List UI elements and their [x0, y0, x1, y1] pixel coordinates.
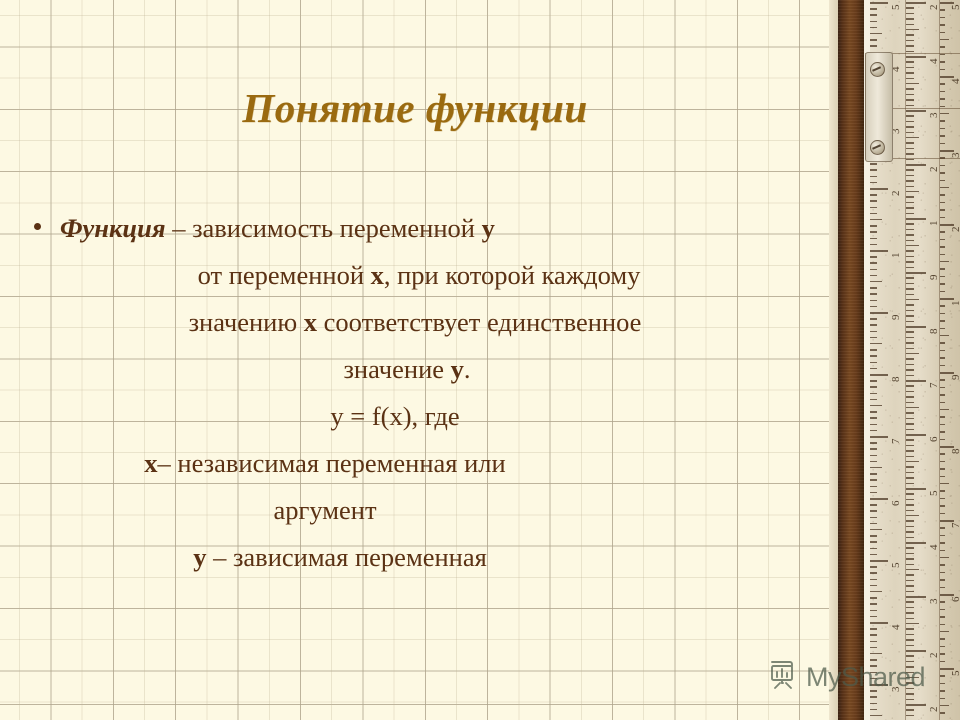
ruler-tick: [870, 467, 882, 468]
ruler-tick: [940, 98, 945, 99]
ruler-tick: [940, 261, 949, 262]
ruler-tick: [906, 288, 914, 289]
ruler-tick: [906, 472, 914, 473]
ruler-tick: [870, 275, 877, 276]
ruler-tick: [906, 466, 914, 467]
ruler-number: 3: [928, 113, 940, 119]
ruler-tick: [940, 365, 945, 366]
ruler-tick: [870, 628, 877, 629]
ruler-tick: [906, 267, 914, 268]
ruler-tick: [906, 580, 914, 581]
vintage-ruler-artwork: 543219876543 24321987654322 5432198765: [829, 0, 960, 720]
ruler-tick: [940, 675, 945, 676]
ruler-tick: [870, 355, 877, 356]
ruler-tick: [870, 517, 877, 518]
ruler-tick: [906, 45, 914, 46]
ruler-tick: [906, 315, 914, 316]
ruler-tick: [906, 628, 914, 629]
ruler-tick: [870, 393, 877, 394]
ruler-number: 8: [950, 449, 960, 455]
ruler-tick: [940, 527, 945, 528]
ruler-tick: [906, 450, 914, 451]
formula-line: y = f(x), где: [0, 393, 830, 440]
ruler-tick: [906, 78, 914, 79]
ruler-tick: [870, 585, 877, 586]
ruler-tick: [940, 498, 945, 499]
ruler-tick: [940, 579, 945, 580]
ruler-tick: [906, 250, 914, 251]
ruler-tick: [906, 223, 914, 224]
ruler-tick: [940, 453, 945, 454]
ruler-tick: [940, 283, 945, 284]
ruler-number: 2: [928, 167, 940, 173]
ruler-tick: [906, 202, 914, 203]
ruler-tick: [940, 91, 945, 92]
ruler-tick: [906, 553, 914, 554]
ruler-tick: [906, 423, 914, 424]
ruler-tick: [906, 29, 919, 30]
ruler-tick: [940, 9, 945, 10]
ruler-tick: [940, 379, 945, 380]
definition-line-3: значению x соответствует единственное: [0, 299, 830, 346]
ruler-tick: [870, 529, 882, 530]
ruler-tick: [906, 655, 914, 656]
ruler-tick: [870, 554, 877, 555]
ruler-tick: [940, 705, 949, 706]
formula-text: y = f(x), где: [330, 401, 459, 431]
ruler-tick: [906, 402, 914, 403]
ruler-tick: [870, 14, 877, 15]
ruler-tick: [940, 217, 945, 218]
ruler-tick: [940, 661, 945, 662]
ruler-tick: [906, 191, 919, 192]
ruler-tick: [906, 56, 926, 58]
ruler-tick: [906, 531, 914, 532]
ruler-tick: [940, 313, 945, 314]
variable-x: x: [371, 260, 384, 290]
ruler-tick: [906, 261, 914, 262]
ruler-tick: [906, 412, 914, 413]
ruler-tick: [906, 369, 914, 370]
ruler-tick: [870, 169, 877, 170]
ruler-tick: [906, 2, 926, 4]
ruler-tick: [870, 610, 877, 611]
ruler-tick: [906, 439, 914, 440]
ruler-number: 6: [928, 437, 940, 443]
ruler-tick: [940, 387, 945, 388]
ruler-tick: [906, 396, 914, 397]
ruler-tick: [870, 33, 882, 34]
ruler-tick: [870, 2, 888, 4]
ruler-tick: [940, 231, 945, 232]
ruler-tick: [906, 169, 914, 170]
ruler-tick: [940, 83, 945, 84]
ruler-tick: [906, 650, 926, 652]
ruler-tick: [870, 362, 877, 363]
ruler-tick: [870, 486, 877, 487]
ruler-number: 1: [950, 301, 960, 307]
ruler-number: 2: [890, 191, 902, 197]
ruler-number: 4: [928, 545, 940, 551]
ruler-tick: [940, 564, 945, 565]
screw-icon: [870, 62, 885, 77]
ruler-tick: [940, 291, 945, 292]
ruler-tick: [870, 337, 877, 338]
ruler-tick: [870, 368, 877, 369]
ruler-tick: [870, 287, 877, 288]
ruler-tick: [940, 335, 949, 336]
ruler-tick: [940, 646, 945, 647]
ruler-tick: [870, 510, 877, 511]
ruler-tick: [940, 424, 945, 425]
definition-text-3b: соответствует единственное: [317, 307, 641, 337]
ruler-tick: [906, 477, 914, 478]
ruler-tick: [906, 407, 919, 408]
ruler-tick: [906, 207, 914, 208]
ruler-tick: [870, 696, 877, 697]
ruler-number: 9: [928, 275, 940, 281]
ruler-tick: [940, 624, 945, 625]
ruler-tick: [870, 194, 877, 195]
ruler-tick: [870, 424, 877, 425]
ruler-tick: [870, 318, 877, 319]
ruler-tick: [906, 585, 914, 586]
ruler-tick: [870, 219, 882, 220]
ruler-tick: [940, 683, 945, 684]
ruler-tick: [906, 596, 926, 598]
ruler-tick: [870, 8, 877, 9]
ruler-tick: [940, 690, 945, 691]
ruler-tick: [906, 115, 914, 116]
ruler-tick: [940, 653, 945, 654]
ruler-tick: [870, 560, 888, 562]
ruler-tick: [906, 429, 914, 430]
ruler-tick: [870, 616, 877, 617]
ruler-tick: [870, 417, 877, 418]
ruler-tick: [906, 537, 914, 538]
ruler-tick: [870, 641, 877, 642]
ruler-tick: [906, 704, 926, 706]
ruler-tick: [940, 46, 945, 47]
ruler-tick: [940, 587, 945, 588]
book-spine-grain: [838, 0, 864, 720]
ruler-tick: [940, 113, 949, 114]
ruler-tick: [870, 300, 877, 301]
ruler-tick: [906, 634, 914, 635]
ruler-tick: [940, 505, 945, 506]
definition-text-3a: значению: [189, 307, 304, 337]
ruler-tick: [940, 431, 945, 432]
ruler-tick: [906, 164, 926, 166]
ruler-number: 2: [950, 227, 960, 233]
ruler-tick: [870, 256, 877, 257]
ruler-tick: [870, 709, 877, 710]
ruler-number: 4: [950, 79, 960, 85]
ruler-tick: [940, 172, 945, 173]
ruler-tick: [940, 202, 945, 203]
ruler-tick: [940, 416, 945, 417]
ruler-tick: [906, 542, 926, 544]
ruler-tick: [940, 542, 945, 543]
ruler-tick: [940, 350, 945, 351]
ruler-tick: [940, 601, 945, 602]
ruler-tick: [870, 597, 877, 598]
ruler-tick: [940, 513, 945, 514]
ruler-tick: [906, 18, 914, 19]
ruler-tick: [906, 137, 919, 138]
ruler-number: 5: [890, 5, 902, 11]
ruler-tick: [940, 631, 949, 632]
ruler-tick: [870, 436, 888, 438]
variable-x: x: [304, 307, 317, 337]
ruler-tick: [940, 609, 945, 610]
ruler-tick: [906, 385, 914, 386]
ruler-tick: [870, 566, 877, 567]
ruler-tick: [906, 13, 914, 14]
ruler-tick: [906, 569, 919, 570]
ruler-tick: [870, 399, 877, 400]
ruler-tick: [906, 715, 914, 716]
ruler-tick: [906, 121, 914, 122]
ruler-tick: [906, 256, 914, 257]
variable-y: y: [451, 354, 464, 384]
ruler-tick: [870, 380, 877, 381]
ruler-number: 1: [928, 221, 940, 227]
ruler-tick: [906, 709, 914, 710]
ruler-tick: [906, 591, 914, 592]
ruler-tick: [906, 126, 914, 127]
ruler-tick: [906, 483, 914, 484]
ruler-number: 5: [928, 491, 940, 497]
ruler-tick: [940, 712, 945, 713]
ruler-tick: [906, 7, 914, 8]
ruler-tick: [906, 99, 914, 100]
ruler-tick: [906, 699, 914, 700]
ruler-tick: [870, 343, 882, 344]
ruler-tick: [906, 175, 914, 176]
ruler-number: 7: [890, 439, 902, 445]
ruler-tick: [906, 510, 914, 511]
ruler-tick: [870, 653, 882, 654]
ruler-tick: [870, 548, 877, 549]
variable-y: y: [193, 542, 206, 572]
ruler-tick: [940, 402, 945, 403]
ruler-tick: [940, 638, 945, 639]
ruler-tick: [870, 634, 877, 635]
ruler-tick: [940, 120, 945, 121]
ruler-tick: [940, 209, 945, 210]
ruler-tick: [906, 326, 926, 328]
ruler-tick: [906, 105, 914, 106]
page-title: Понятие функции: [0, 84, 830, 132]
ruler-tick: [906, 240, 914, 241]
definition-line-4: значение y.: [0, 346, 830, 393]
ruler-tick: [870, 405, 882, 406]
ruler-tick: [906, 493, 914, 494]
definition-line-2: от переменной x, при которой каждому: [0, 252, 830, 299]
ruler-tick: [870, 262, 877, 263]
ruler-tick: [940, 550, 945, 551]
ruler-tick: [940, 276, 945, 277]
ruler-tick: [906, 418, 914, 419]
ruler-tick: [940, 468, 945, 469]
ruler-number: 4: [928, 59, 940, 65]
ruler-tick: [870, 541, 877, 542]
ruler-tick: [906, 51, 914, 52]
ruler-tick: [906, 564, 914, 565]
ruler-tick: [940, 239, 945, 240]
ruler-tick: [940, 54, 945, 55]
ruler-tick: [906, 601, 914, 602]
ruler-tick: [870, 27, 877, 28]
ruler-tick: [870, 349, 877, 350]
ruler-tick: [906, 283, 914, 284]
ruler-tick: [906, 110, 926, 112]
ruler-number: 9: [950, 375, 960, 381]
definition-text-1: – зависимость переменной: [166, 213, 482, 243]
ruler-tick: [870, 331, 877, 332]
ruler-tick: [906, 348, 914, 349]
ruler-tick: [906, 132, 914, 133]
ruler-tick: [906, 456, 914, 457]
ruler-number: 3: [928, 599, 940, 605]
ruler-number: 7: [928, 383, 940, 389]
slide-content: Понятие функции Функция – зависимость пе…: [0, 0, 830, 720]
ruler-tick: [906, 88, 914, 89]
ruler-tick: [906, 61, 914, 62]
ruler-tick: [870, 622, 888, 624]
ruler-tick: [870, 238, 877, 239]
ruler-tick: [906, 337, 914, 338]
ruler-tick: [906, 180, 914, 181]
ruler-tick: [940, 187, 949, 188]
ruler-number: 2: [928, 707, 940, 713]
ruler-number: 2: [928, 5, 940, 11]
ruler-tick: [870, 182, 877, 183]
ruler-number: 6: [890, 501, 902, 507]
ruler-tick: [870, 461, 877, 462]
ruler-tick: [940, 69, 945, 70]
ruler-number: 6: [950, 597, 960, 603]
ruler-tick: [870, 479, 877, 480]
ruler-tick: [940, 128, 945, 129]
ruler-tick: [940, 224, 954, 226]
ruler-tick: [906, 94, 914, 95]
ruler-tick: [870, 312, 888, 314]
ruler-tick: [870, 21, 877, 22]
ruler-tick: [906, 515, 919, 516]
ruler-tick: [940, 298, 954, 300]
ruler-tick: [940, 557, 949, 558]
ruler-tick: [870, 715, 882, 716]
ruler-tick: [906, 639, 914, 640]
ruler-number: 5: [950, 5, 960, 11]
ruler-tick: [940, 32, 945, 33]
ruler-tick: [870, 430, 877, 431]
ruler-tick: [870, 293, 877, 294]
ruler-tick: [906, 547, 914, 548]
definition-text-2b: , при которой каждому: [384, 260, 641, 290]
ruler-tick: [906, 218, 926, 220]
ruler-tick: [870, 231, 877, 232]
ruler-tick: [870, 498, 888, 500]
ruler-number: 2: [928, 653, 940, 659]
presentation-board-icon: [768, 660, 798, 695]
definition-text-2a: от переменной: [198, 260, 371, 290]
ruler-tick: [906, 24, 914, 25]
ruler-tick: [940, 39, 949, 40]
ruler-tick: [870, 200, 877, 201]
ruler-number: 9: [890, 315, 902, 321]
argument-line: аргумент: [0, 487, 830, 534]
ruler-tick: [870, 163, 877, 164]
ruler-tick: [906, 353, 919, 354]
ruler-tick: [906, 364, 914, 365]
ruler-tick: [906, 272, 926, 274]
ruler-tick: [870, 244, 877, 245]
ruler-tick: [870, 448, 877, 449]
ruler-tick: [906, 461, 919, 462]
ruler-tick: [906, 72, 914, 73]
ruler-tick: [940, 357, 945, 358]
ruler-tick: [870, 213, 877, 214]
ruler-tick: [870, 39, 877, 40]
ruler-tick: [906, 607, 914, 608]
ruler-tick: [906, 391, 914, 392]
variable-x: x: [144, 448, 157, 478]
ruler-tick: [906, 213, 914, 214]
ruler-tick: [940, 180, 945, 181]
ruler-tick: [906, 277, 914, 278]
independent-variable-line: x– независимая переменная или: [0, 440, 830, 487]
ruler-tick: [870, 306, 877, 307]
ruler-tick: [940, 394, 945, 395]
ruler-tick: [870, 207, 877, 208]
independent-variable-text: – независимая переменная или: [158, 448, 506, 478]
definition-line-1: Функция – зависимость переменной y: [0, 205, 830, 252]
myshared-watermark: MyShared: [768, 660, 925, 695]
definition-text-4b: .: [464, 354, 471, 384]
ruler-tick: [906, 645, 914, 646]
dependent-variable-line: y – зависимая переменная: [0, 534, 830, 581]
term-function: Функция: [60, 213, 166, 243]
ruler-tick: [870, 250, 888, 252]
ruler-tick: [940, 698, 945, 699]
ruler-tick: [940, 461, 945, 462]
dependent-variable-text: – зависимая переменная: [206, 542, 486, 572]
ruler-tick: [940, 143, 945, 144]
ruler-tick: [906, 196, 914, 197]
ruler-tick: [906, 304, 914, 305]
ruler-tick: [870, 374, 888, 376]
ruler-tick: [906, 234, 914, 235]
ruler-tick: [906, 153, 914, 154]
slide-canvas: 543219876543 24321987654322 5432198765 П…: [0, 0, 960, 720]
ruler-tick: [870, 591, 882, 592]
bullet-icon: [34, 223, 41, 230]
ruler-tick: [940, 165, 945, 166]
ruler-tick: [870, 703, 877, 704]
ruler-tick: [906, 504, 914, 505]
ruler-tick: [906, 612, 914, 613]
ruler-tick: [940, 409, 949, 410]
ruler-tick: [870, 455, 877, 456]
ruler-number: 7: [950, 523, 960, 529]
ruler-tick: [906, 245, 919, 246]
ruler-tick: [940, 24, 945, 25]
ruler-tick: [906, 83, 919, 84]
ruler-tick: [940, 490, 945, 491]
